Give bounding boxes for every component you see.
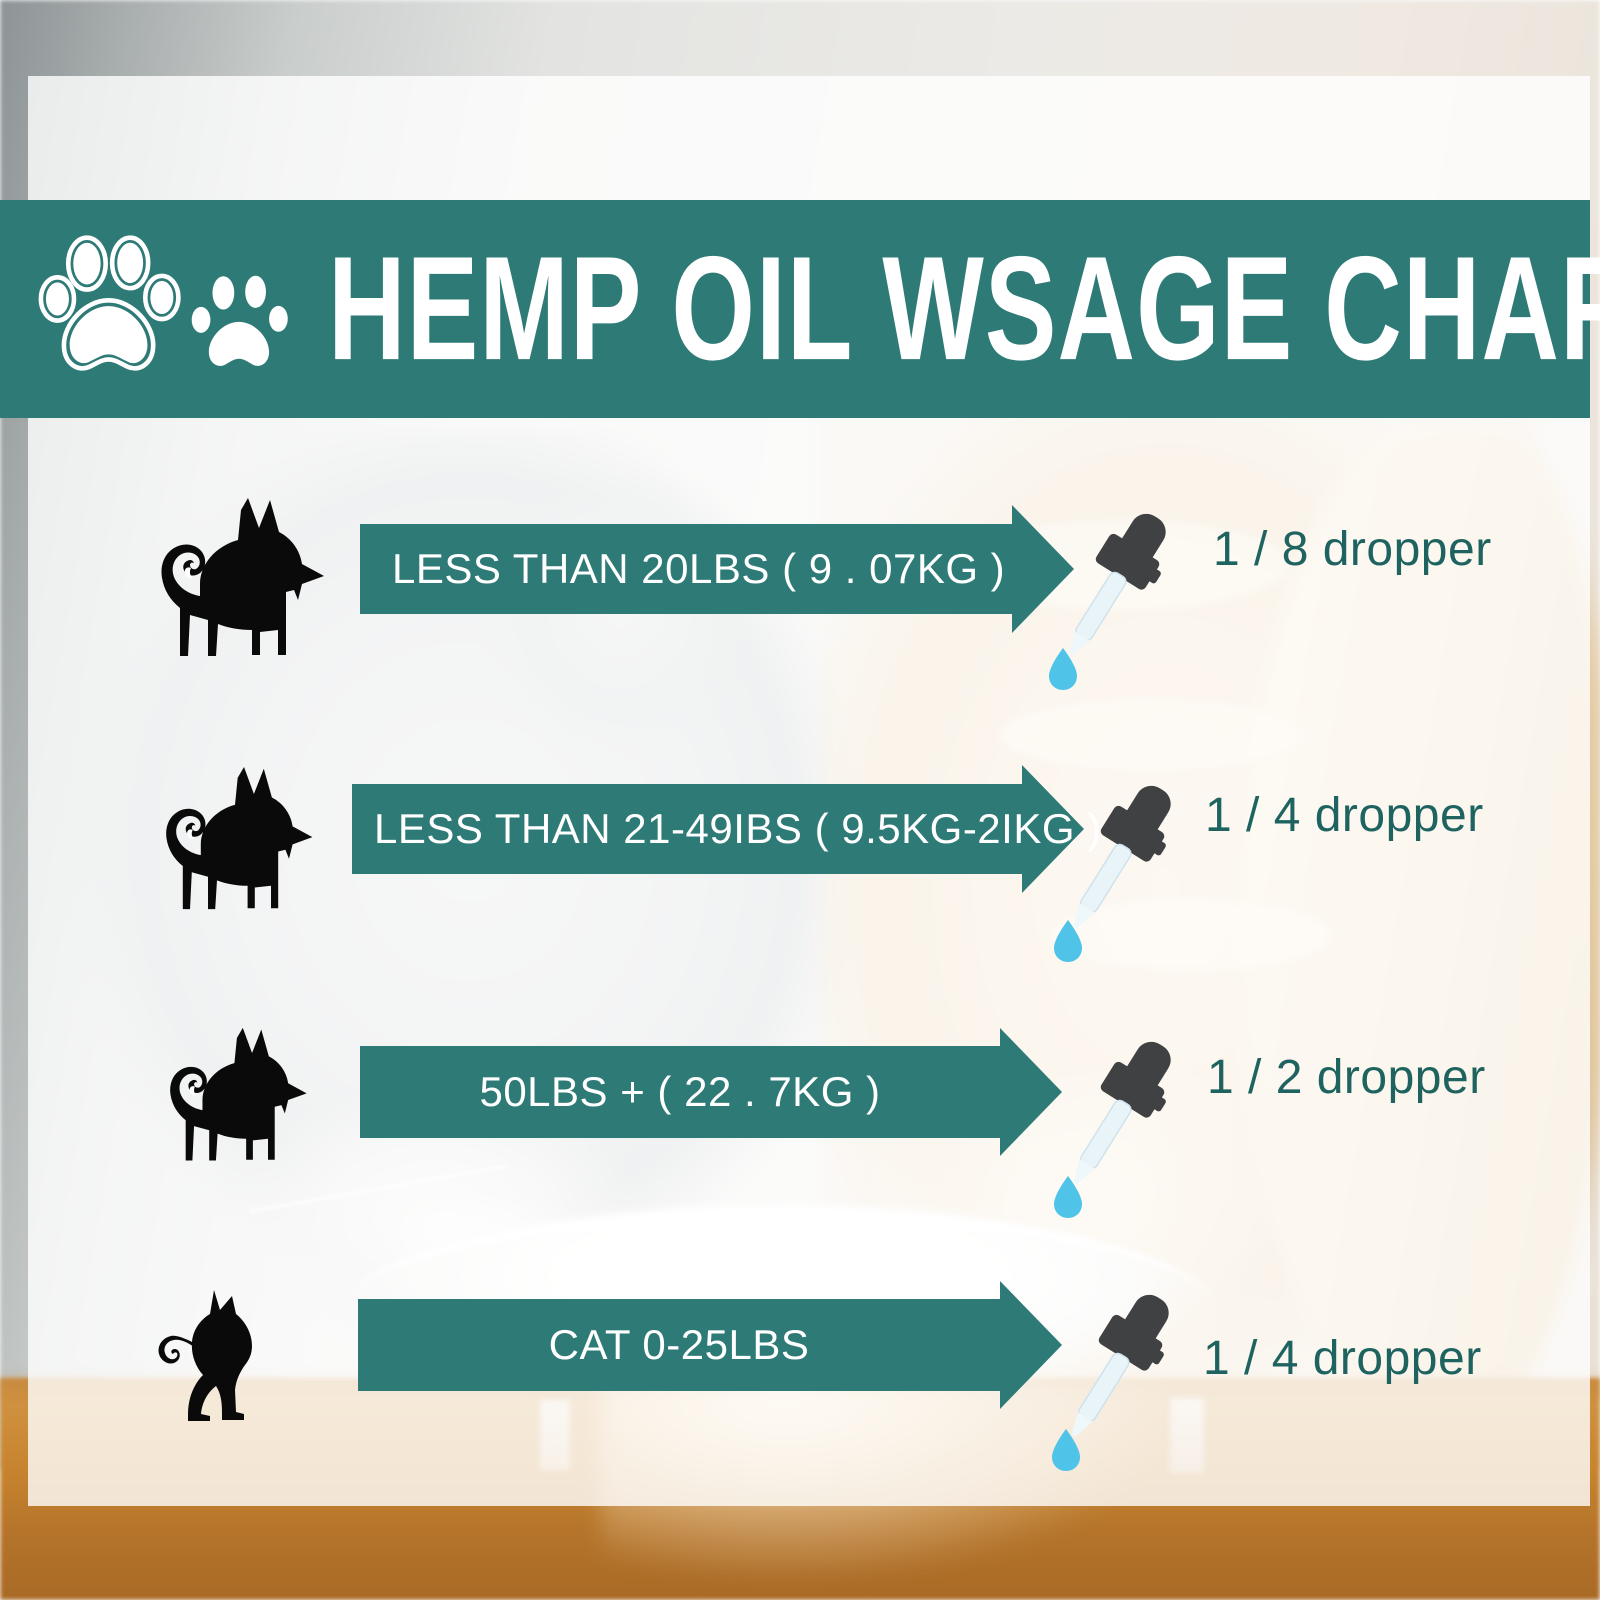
dose-label: 1 / 4 dropper (1205, 788, 1484, 843)
paw-print-icon (38, 234, 182, 384)
paw-icons-group (38, 234, 292, 384)
dose-label: 1 / 4 dropper (1203, 1331, 1482, 1386)
weight-arrow: LESS THAN 21-49IBS ( 9.5KG-2IKG ) (352, 784, 1022, 874)
hemp-oil-usage-chart-infographic: HEMP OIL WSAGE CHART LESS THAN 20LBS ( 9… (0, 0, 1600, 1600)
dropper-icon (1040, 1028, 1210, 1228)
weight-label: LESS THAN 21-49IBS ( 9.5KG-2IKG ) (374, 805, 1102, 853)
weight-arrow: 50LBS + ( 22 . 7KG ) (360, 1046, 1000, 1138)
dosage-row: CAT 0-25LBS 1 / 4 dropper (0, 1245, 1600, 1445)
weight-label: 50LBS + ( 22 . 7KG ) (479, 1068, 880, 1116)
dosage-row: 50LBS + ( 22 . 7KG ) 1 / 2 dropper (0, 990, 1600, 1190)
dropper-icon (1040, 772, 1210, 972)
weight-arrow: CAT 0-25LBS (358, 1299, 1000, 1391)
weight-arrow: LESS THAN 20LBS ( 9 . 07KG ) (360, 524, 1012, 614)
dosage-row: LESS THAN 21-49IBS ( 9.5KG-2IKG ) 1 / 4 … (0, 730, 1600, 930)
dropper-icon (1038, 1281, 1208, 1481)
paw-print-small-icon (188, 270, 292, 378)
weight-label: CAT 0-25LBS (549, 1321, 810, 1369)
dropper-icon (1035, 500, 1205, 700)
weight-label: LESS THAN 20LBS ( 9 . 07KG ) (392, 545, 1005, 593)
dog-silhouette-icon (142, 1012, 310, 1199)
dog-silhouette-icon (128, 480, 328, 700)
header-band: HEMP OIL WSAGE CHART (0, 200, 1590, 418)
dog-silhouette-icon (136, 750, 316, 950)
dose-label: 1 / 8 dropper (1213, 522, 1492, 577)
dosage-row: LESS THAN 20LBS ( 9 . 07KG ) 1 / 8 dropp… (0, 470, 1600, 670)
page-title: HEMP OIL WSAGE CHART (328, 235, 1600, 383)
cat-silhouette-icon (148, 1280, 276, 1437)
dose-label: 1 / 2 dropper (1207, 1050, 1486, 1105)
